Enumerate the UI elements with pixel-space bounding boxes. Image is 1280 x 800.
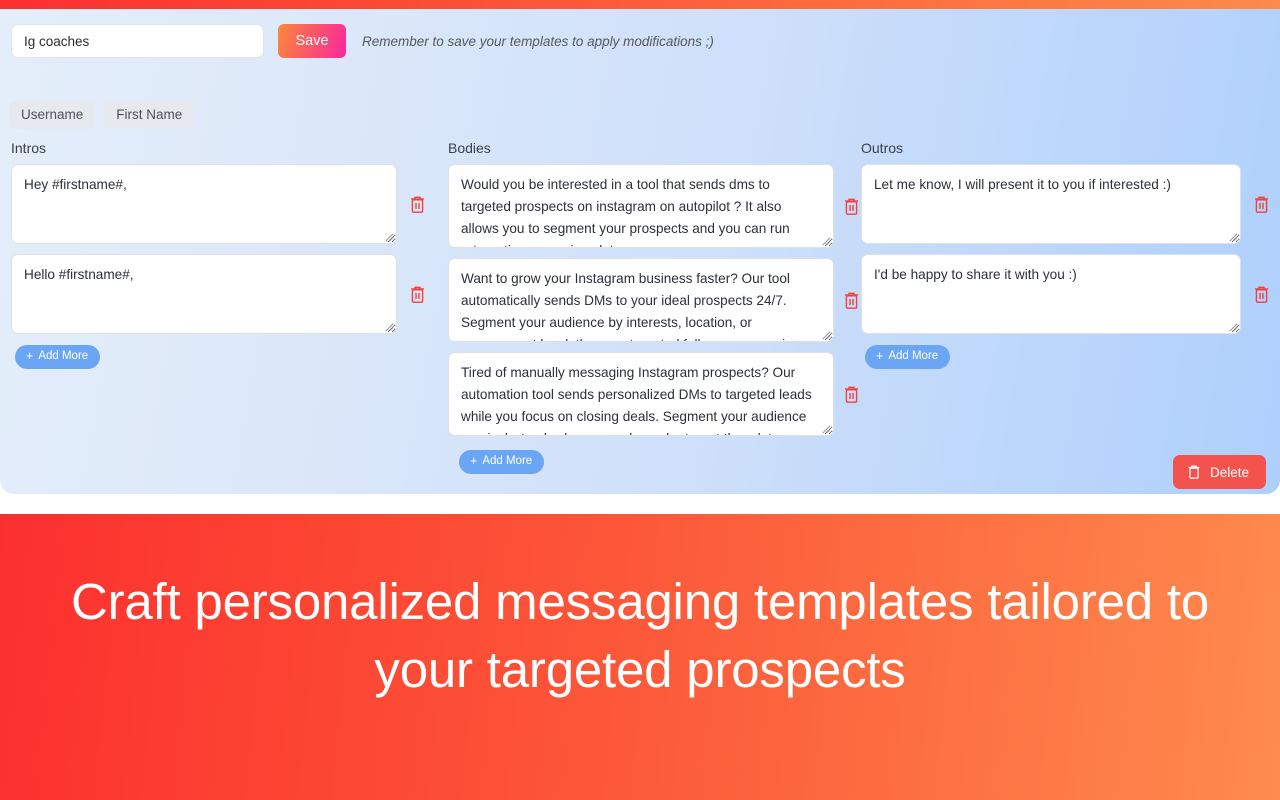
body-row — [448, 352, 846, 436]
body-textarea-1[interactable] — [448, 164, 834, 248]
add-more-intro-button[interactable]: + Add More — [15, 345, 100, 369]
outro-textarea-wrap — [861, 254, 1241, 334]
plus-icon: + — [876, 350, 883, 363]
trash-icon — [1187, 464, 1201, 480]
intro-textarea-1[interactable] — [11, 164, 397, 244]
delete-template-button[interactable]: Delete — [1173, 455, 1266, 489]
template-name-input[interactable] — [11, 24, 264, 58]
plus-icon: + — [26, 350, 33, 363]
add-more-outro-label: Add More — [888, 351, 938, 363]
intro-row — [11, 254, 428, 334]
trash-icon — [409, 195, 426, 214]
outro-textarea-wrap — [861, 164, 1241, 244]
delete-outro-1-button[interactable] — [1250, 192, 1272, 216]
add-more-intro-label: Add More — [38, 351, 88, 363]
template-header: Save Remember to save your templates to … — [11, 24, 714, 58]
trash-icon — [1253, 285, 1270, 304]
variable-pill-username[interactable]: Username — [9, 101, 95, 129]
banner-headline: Craft personalized messaging templates t… — [45, 568, 1235, 704]
outro-row — [861, 164, 1280, 244]
add-more-body-label: Add More — [482, 456, 532, 468]
column-title-bodies: Bodies — [448, 141, 846, 155]
template-editor-panel: Save Remember to save your templates to … — [0, 9, 1280, 494]
intro-textarea-2[interactable] — [11, 254, 397, 334]
delete-template-label: Delete — [1210, 465, 1249, 480]
intro-textarea-wrap — [11, 254, 397, 334]
template-columns: Intros — [0, 141, 1280, 474]
variable-pill-first-name[interactable]: First Name — [104, 101, 194, 129]
trash-icon — [1253, 195, 1270, 214]
save-hint-text: Remember to save your templates to apply… — [362, 34, 714, 49]
column-bodies: Bodies — [428, 141, 846, 474]
outro-textarea-1[interactable] — [861, 164, 1241, 244]
outro-row — [861, 254, 1280, 334]
column-title-outros: Outros — [861, 141, 1280, 155]
save-button[interactable]: Save — [278, 24, 346, 58]
column-intros: Intros — [0, 141, 428, 474]
delete-intro-1-button[interactable] — [406, 192, 428, 216]
promo-banner: Craft personalized messaging templates t… — [0, 514, 1280, 800]
save-button-label: Save — [295, 33, 328, 49]
body-textarea-3[interactable] — [448, 352, 834, 436]
column-title-intros: Intros — [11, 141, 428, 155]
delete-intro-2-button[interactable] — [406, 282, 428, 306]
intro-row — [11, 164, 428, 244]
top-accent-strip — [0, 0, 1280, 9]
body-row — [448, 258, 846, 342]
variable-pill-row: Username First Name — [9, 101, 194, 129]
trash-icon — [409, 285, 426, 304]
column-outros: Outros — [846, 141, 1280, 474]
body-row — [448, 164, 846, 248]
delete-outro-2-button[interactable] — [1250, 282, 1272, 306]
app-root: Save Remember to save your templates to … — [0, 0, 1280, 800]
body-textarea-2[interactable] — [448, 258, 834, 342]
body-textarea-wrap — [448, 352, 834, 436]
body-textarea-wrap — [448, 258, 834, 342]
plus-icon: + — [470, 455, 477, 468]
intro-textarea-wrap — [11, 164, 397, 244]
body-textarea-wrap — [448, 164, 834, 248]
add-more-outro-button[interactable]: + Add More — [865, 345, 950, 369]
outro-textarea-2[interactable] — [861, 254, 1241, 334]
add-more-body-button[interactable]: + Add More — [459, 450, 544, 474]
